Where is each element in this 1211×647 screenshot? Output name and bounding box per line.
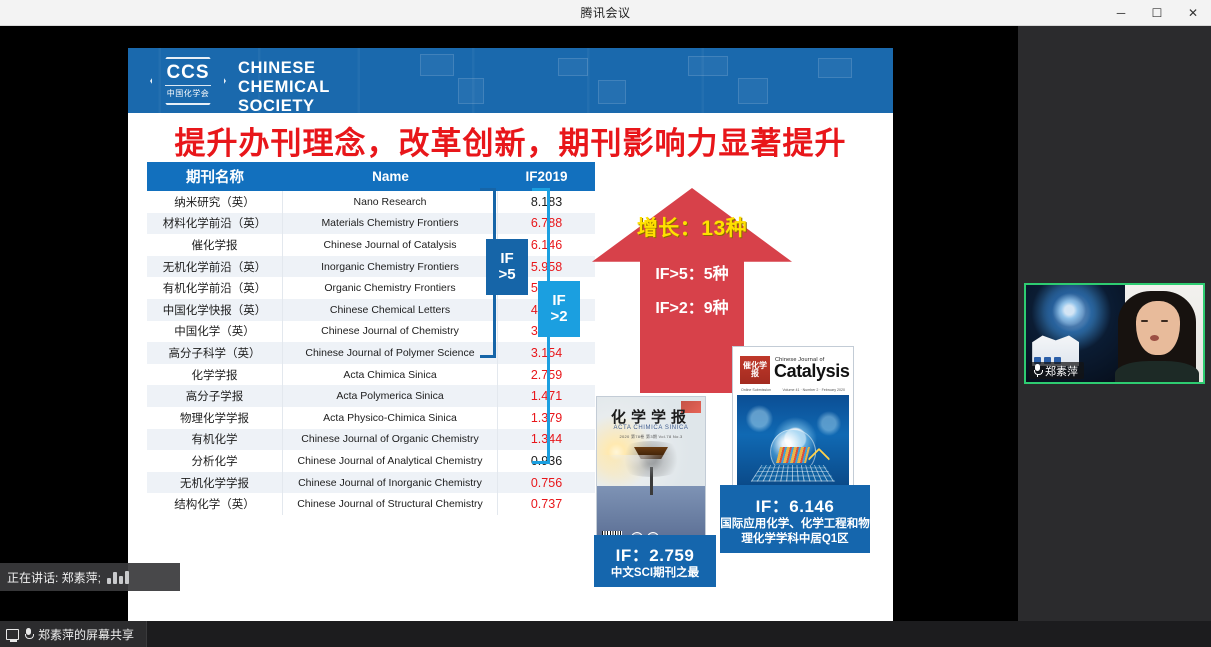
column-header-impact-factor: IF2019 [498, 162, 595, 191]
window-title: 腾讯会议 [580, 4, 630, 21]
watermark-cell [558, 58, 588, 76]
cell-english-name: Chinese Journal of Catalysis [283, 234, 498, 256]
speaking-indicator: 正在讲话: 郑素萍; [0, 563, 180, 591]
table-row: 材料化学前沿（英）Materials Chemistry Frontiers6.… [147, 213, 595, 235]
cover-b-meta: Online Submission Volume 41 · Number 2 ·… [741, 388, 845, 392]
table-row: 高分子科学（英）Chinese Journal of Polymer Scien… [147, 342, 595, 364]
caption-chinese-journal-of-catalysis: IF：6.146 国际应用化学、化学工程和物理化学学科中居Q1区 [720, 485, 870, 553]
caption-a-subtitle: 中文SCI期刊之最 [611, 566, 699, 580]
ccs-logo-chinese: 中国化学会 [167, 88, 210, 99]
tag-if5-label-top: IF [500, 251, 513, 267]
table-header-row: 期刊名称 Name IF2019 [147, 162, 595, 191]
cover-b-chinese-badge: 催化学报 [740, 356, 770, 384]
minimize-button[interactable]: ─ [1103, 0, 1139, 26]
cell-english-name: Chinese Journal of Organic Chemistry [283, 429, 498, 451]
society-name-line-2: CHEMICAL [238, 78, 330, 97]
cell-impact-factor: 0.737 [498, 493, 595, 515]
taskbar: 郑素萍的屏幕共享 [0, 621, 1211, 647]
shared-screen-stage[interactable]: CCS 中国化学会 CHINESE CHEMICAL SOCIETY 提升办刊理… [0, 26, 1018, 621]
slide-header-band: CCS 中国化学会 CHINESE CHEMICAL SOCIETY [128, 48, 893, 113]
cell-chinese-name: 催化学报 [147, 234, 283, 256]
ccs-society-name: CHINESE CHEMICAL SOCIETY [238, 59, 330, 113]
cell-chinese-name: 高分子科学（英） [147, 342, 283, 364]
cover-a-chinese-title: 化学学报 [597, 406, 705, 427]
tag-if2-label-bottom: >2 [550, 309, 567, 325]
watermark-cell [688, 56, 728, 76]
close-button[interactable]: ✕ [1175, 0, 1211, 26]
table-row: 有机化学Chinese Journal of Organic Chemistry… [147, 429, 595, 451]
society-name-line-3: SOCIETY [238, 97, 330, 113]
cell-chinese-name: 有机化学 [147, 429, 283, 451]
watermark-cell [818, 58, 852, 78]
screen-share-icon [6, 629, 19, 640]
column-header-english-name: Name [283, 162, 498, 191]
cell-english-name: Chinese Chemical Letters [283, 299, 498, 321]
microphone-icon [1033, 364, 1042, 377]
cover-b-badge-label: 催化学报 [740, 356, 770, 384]
cover-b-meta-right: Volume 41 · Number 2 · February 2020 [782, 388, 845, 392]
participant-eye [1141, 320, 1148, 322]
table-row: 分析化学Chinese Journal of Analytical Chemis… [147, 450, 595, 472]
cell-chinese-name: 无机化学学报 [147, 472, 283, 494]
cell-english-name: Organic Chemistry Frontiers [283, 277, 498, 299]
artwork-lattice-slab [751, 465, 835, 482]
cell-english-name: Materials Chemistry Frontiers [283, 213, 498, 235]
arrow-line-if5: IF>5：5种 [592, 260, 792, 284]
cell-chinese-name: 分析化学 [147, 450, 283, 472]
arrow-line-if2: IF>2：9种 [592, 294, 792, 318]
cell-english-name: Nano Research [283, 191, 498, 213]
tag-if-greater-than-5: IF >5 [486, 239, 528, 295]
cell-chinese-name: 中国化学快报（英） [147, 299, 283, 321]
column-header-chinese-name: 期刊名称 [147, 162, 283, 191]
taskbar-screen-share-item[interactable]: 郑素萍的屏幕共享 [0, 621, 147, 647]
cover-a-english-title: ACTA CHIMICA SINICA [597, 425, 705, 431]
cover-a-issue: 2020 第78卷 第3期 Vol.78 No.3 [597, 434, 705, 440]
participant-video-panel: 郑素萍 [1018, 26, 1211, 621]
caption-b-impact-factor: IF：6.146 [756, 492, 835, 517]
cell-english-name: Chinese Journal of Analytical Chemistry [283, 450, 498, 472]
watermark-cell [598, 80, 626, 104]
tree-roots [597, 455, 675, 481]
cell-chinese-name: 中国化学（英） [147, 321, 283, 343]
table-row: 物理化学学报Acta Physico-Chimica Sinica1.379 [147, 407, 595, 429]
artwork-catalyst-rods [776, 447, 810, 463]
taskbar-share-label: 郑素萍的屏幕共享 [38, 626, 134, 643]
participant-name: 郑素萍 [1045, 363, 1078, 379]
slide-title: 提升办刊理念，改革创新，期刊影响力显著提升 [128, 118, 893, 163]
table-row: 高分子学报Acta Polymerica Sinica1.471 [147, 385, 595, 407]
table-row: 中国化学（英）Chinese Journal of Chemistry3.826 [147, 321, 595, 343]
cell-english-name: Acta Physico-Chimica Sinica [283, 407, 498, 429]
caption-b-subtitle: 国际应用化学、化学工程和物理化学学科中居Q1区 [720, 517, 870, 546]
window-title-bar: 腾讯会议 ─ ☐ ✕ [0, 0, 1211, 26]
watermark-cell [738, 78, 768, 104]
table-row: 化学学报Acta Chimica Sinica2.759 [147, 364, 595, 386]
window-controls: ─ ☐ ✕ [1103, 0, 1211, 26]
cell-chinese-name: 材料化学前沿（英） [147, 213, 283, 235]
cell-english-name: Inorganic Chemistry Frontiers [283, 256, 498, 278]
speaking-label: 正在讲话: 郑素萍; [7, 569, 101, 586]
cell-chinese-name: 化学学报 [147, 364, 283, 386]
participant-eye [1161, 320, 1168, 322]
cell-english-name: Chinese Journal of Inorganic Chemistry [283, 472, 498, 494]
presentation-slide: CCS 中国化学会 CHINESE CHEMICAL SOCIETY 提升办刊理… [128, 48, 893, 621]
ccs-abbreviation: CCS [166, 63, 209, 82]
cell-chinese-name: 无机化学前沿（英） [147, 256, 283, 278]
ccs-logo: CCS 中国化学会 [150, 57, 226, 105]
cell-impact-factor: 0.756 [498, 472, 595, 494]
cell-english-name: Chinese Journal of Structural Chemistry [283, 493, 498, 515]
cover-acta-chimica-sinica: 化学学报 ACTA CHIMICA SINICA 2020 第78卷 第3期 V… [596, 396, 706, 551]
microphone-icon [24, 628, 33, 641]
cover-b-english-title: Catalysis [774, 362, 849, 380]
arrow-headline: 增长：13种 [592, 212, 792, 242]
watermark-cell [420, 54, 454, 76]
table-row: 中国化学快报（英）Chinese Chemical Letters4.632 [147, 299, 595, 321]
journal-impact-factor-table: 期刊名称 Name IF2019 纳米研究（英）Nano Research8.1… [147, 162, 477, 515]
tag-if-greater-than-2: IF >2 [538, 281, 580, 337]
cover-b-artwork [737, 395, 849, 490]
cell-english-name: Acta Chimica Sinica [283, 364, 498, 386]
cell-chinese-name: 物理化学学报 [147, 407, 283, 429]
tag-if2-label-top: IF [552, 293, 565, 309]
caption-acta-chimica-sinica: IF：2.759 中文SCI期刊之最 [594, 535, 716, 587]
cell-english-name: Chinese Journal of Polymer Science [283, 342, 498, 364]
participant-video-tile[interactable]: 郑素萍 [1024, 283, 1205, 384]
tag-if5-label-bottom: >5 [498, 267, 515, 283]
app-window: 腾讯会议 ─ ☐ ✕ CCS 中国 [0, 0, 1211, 647]
cell-chinese-name: 纳米研究（英） [147, 191, 283, 213]
table-row: 结构化学（英）Chinese Journal of Structural Che… [147, 493, 595, 515]
cell-chinese-name: 有机化学前沿（英） [147, 277, 283, 299]
participant-body [1115, 361, 1200, 382]
participant-name-badge: 郑素萍 [1029, 362, 1084, 379]
cell-chinese-name: 结构化学（英） [147, 493, 283, 515]
cell-chinese-name: 高分子学报 [147, 385, 283, 407]
table-body: 纳米研究（英）Nano Research8.183材料化学前沿（英）Materi… [147, 191, 477, 515]
maximize-button[interactable]: ☐ [1139, 0, 1175, 26]
caption-a-impact-factor: IF：2.759 [616, 541, 695, 566]
watermark-cell [458, 78, 484, 104]
participant-face [1136, 301, 1180, 355]
society-name-line-1: CHINESE [238, 59, 330, 78]
logo-divider [165, 85, 211, 86]
table-row: 纳米研究（英）Nano Research8.183 [147, 191, 595, 213]
audio-wave-icon [107, 570, 129, 584]
cell-english-name: Chinese Journal of Chemistry [283, 321, 498, 343]
table-row: 无机化学学报Chinese Journal of Inorganic Chemi… [147, 472, 595, 494]
cover-b-meta-left: Online Submission [741, 388, 771, 392]
cell-english-name: Acta Polymerica Sinica [283, 385, 498, 407]
